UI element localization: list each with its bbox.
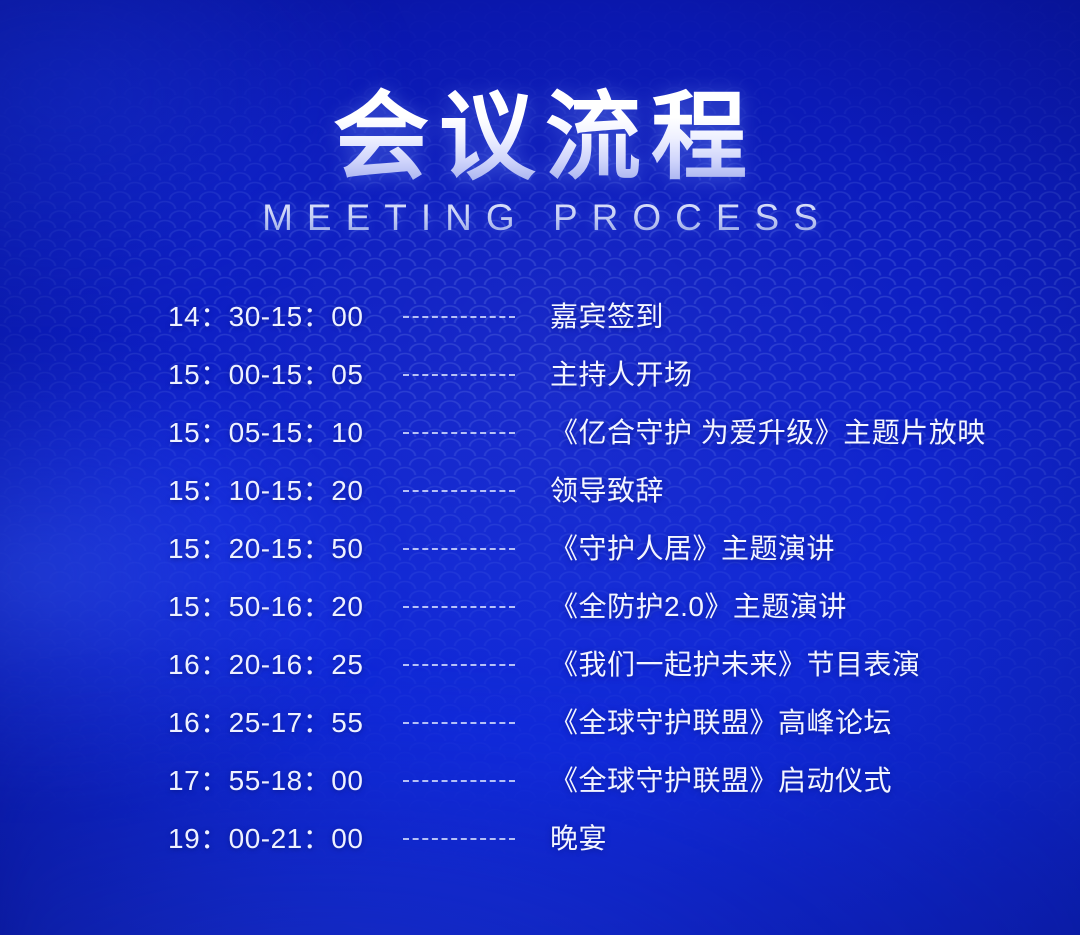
schedule-row-separator bbox=[360, 548, 550, 550]
dashed-line-icon bbox=[403, 548, 515, 550]
schedule-row-separator bbox=[360, 490, 550, 492]
dashed-line-icon bbox=[403, 838, 515, 840]
dashed-line-icon bbox=[403, 432, 515, 434]
schedule-row-time: 16：25-17：55 bbox=[0, 706, 360, 740]
schedule-row-time: 15：50-16：20 bbox=[0, 590, 360, 624]
schedule-row-time: 15：20-15：50 bbox=[0, 532, 360, 566]
schedule-row-separator bbox=[360, 374, 550, 376]
schedule-row-label: 晚宴 bbox=[550, 821, 1080, 857]
schedule-row-separator bbox=[360, 838, 550, 840]
schedule-row-time: 15：10-15：20 bbox=[0, 474, 360, 508]
schedule-row: 17：55-18：00 《全球守护联盟》启动仪式 bbox=[0, 752, 1080, 810]
schedule-row-time: 14：30-15：00 bbox=[0, 300, 360, 334]
schedule-row-separator bbox=[360, 780, 550, 782]
schedule-row: 14：30-15：00 嘉宾签到 bbox=[0, 288, 1080, 346]
dashed-line-icon bbox=[403, 780, 515, 782]
poster-header: 会议流程 MEETING PROCESS bbox=[0, 86, 1080, 240]
schedule-row-time: 15：05-15：10 bbox=[0, 416, 360, 450]
schedule-row-separator bbox=[360, 722, 550, 724]
schedule-row: 16：25-17：55 《全球守护联盟》高峰论坛 bbox=[0, 694, 1080, 752]
schedule-row-separator bbox=[360, 664, 550, 666]
schedule-row-label: 《全球守护联盟》高峰论坛 bbox=[550, 705, 1080, 741]
dashed-line-icon bbox=[403, 664, 515, 666]
schedule-row-label: 主持人开场 bbox=[550, 357, 1080, 393]
schedule-list: 14：30-15：00 嘉宾签到 15：00-15：05 主持人开场 15：05… bbox=[0, 288, 1080, 868]
dashed-line-icon bbox=[403, 316, 515, 318]
schedule-row-time: 19：00-21：00 bbox=[0, 822, 360, 856]
schedule-row: 15：00-15：05 主持人开场 bbox=[0, 346, 1080, 404]
schedule-row: 19：00-21：00 晚宴 bbox=[0, 810, 1080, 868]
schedule-row-separator bbox=[360, 316, 550, 318]
page-subtitle: MEETING PROCESS bbox=[0, 196, 1080, 240]
schedule-row-time: 16：20-16：25 bbox=[0, 648, 360, 682]
schedule-row-label: 《守护人居》主题演讲 bbox=[550, 531, 1080, 567]
dashed-line-icon bbox=[403, 722, 515, 724]
schedule-row-label: 《亿合守护 为爱升级》主题片放映 bbox=[550, 415, 1080, 451]
schedule-row: 16：20-16：25 《我们一起护未来》节目表演 bbox=[0, 636, 1080, 694]
schedule-row-label: 《全防护2.0》主题演讲 bbox=[550, 589, 1080, 625]
dashed-line-icon bbox=[403, 374, 515, 376]
schedule-row-time: 15：00-15：05 bbox=[0, 358, 360, 392]
schedule-row-label: 《我们一起护未来》节目表演 bbox=[550, 647, 1080, 683]
schedule-row-label: 领导致辞 bbox=[550, 473, 1080, 509]
dashed-line-icon bbox=[403, 490, 515, 492]
schedule-row: 15：20-15：50 《守护人居》主题演讲 bbox=[0, 520, 1080, 578]
schedule-row: 15：50-16：20 《全防护2.0》主题演讲 bbox=[0, 578, 1080, 636]
schedule-row-separator bbox=[360, 606, 550, 608]
schedule-row-separator bbox=[360, 432, 550, 434]
schedule-row-label: 《全球守护联盟》启动仪式 bbox=[550, 763, 1080, 799]
dashed-line-icon bbox=[403, 606, 515, 608]
schedule-row-label: 嘉宾签到 bbox=[550, 299, 1080, 335]
meeting-process-poster: 会议流程 MEETING PROCESS 14：30-15：00 嘉宾签到 15… bbox=[0, 0, 1080, 935]
schedule-row-time: 17：55-18：00 bbox=[0, 764, 360, 798]
schedule-row: 15：05-15：10 《亿合守护 为爱升级》主题片放映 bbox=[0, 404, 1080, 462]
schedule-row: 15：10-15：20 领导致辞 bbox=[0, 462, 1080, 520]
page-title: 会议流程 bbox=[0, 86, 1080, 190]
